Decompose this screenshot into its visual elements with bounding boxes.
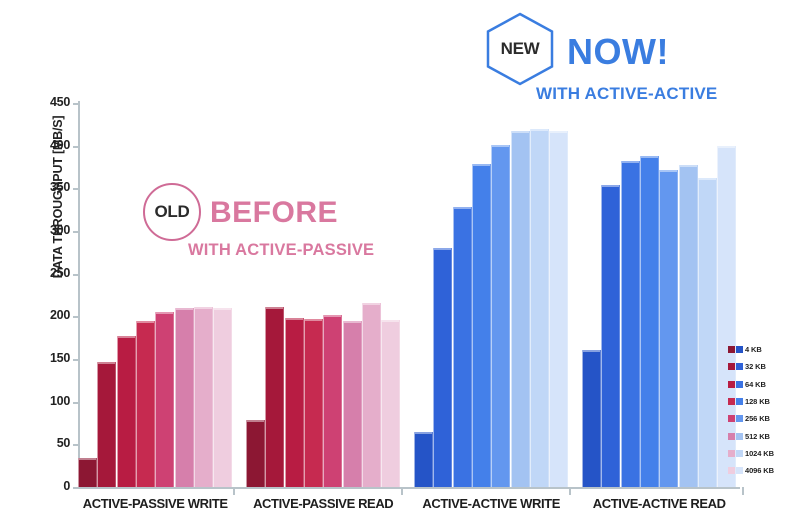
y-axis-tick-label: 350 <box>24 180 70 194</box>
y-axis-tick-label: 300 <box>24 223 70 237</box>
bar-highlight <box>247 420 264 422</box>
bar-highlight <box>531 129 548 131</box>
legend-label: 256 KB <box>745 414 770 423</box>
bar <box>285 318 304 487</box>
bar <box>265 307 284 487</box>
y-axis-tick-label: 0 <box>24 479 70 493</box>
bar <box>530 129 549 487</box>
legend-item[interactable]: 1024 KB <box>728 445 798 462</box>
bar-highlight <box>415 432 432 434</box>
y-axis-tick-label: 50 <box>24 436 70 450</box>
bar-highlight <box>434 248 451 250</box>
new-badge: NEW <box>484 11 556 87</box>
x-axis-category-label: ACTIVE-ACTIVE READ <box>568 496 750 511</box>
legend-swatch-blue <box>736 363 743 370</box>
bar-group <box>246 103 408 487</box>
bar <box>155 312 174 487</box>
new-badge-label: NEW <box>501 39 540 59</box>
legend-swatch-red <box>728 433 735 440</box>
bar-highlight <box>660 170 677 172</box>
bar <box>582 350 601 487</box>
bar <box>323 315 342 487</box>
bar-highlight <box>98 362 115 364</box>
bar-highlight <box>583 350 600 352</box>
legend-swatch-blue <box>736 415 743 422</box>
bar-highlight <box>266 307 283 309</box>
bar-highlight <box>176 308 193 310</box>
bar-highlight <box>214 308 231 310</box>
legend-label: 512 KB <box>745 432 770 441</box>
old-callout-subtitle: WITH ACTIVE-PASSIVE <box>188 242 374 259</box>
legend-swatch-red <box>728 450 735 457</box>
legend-swatch-blue <box>736 467 743 474</box>
bar-highlight <box>512 131 529 133</box>
bar <box>601 185 620 487</box>
legend-swatch-blue <box>736 450 743 457</box>
bar <box>414 432 433 487</box>
bar <box>117 336 136 487</box>
legend-swatch-red <box>728 346 735 353</box>
y-axis-tick-label: 150 <box>24 351 70 365</box>
bar <box>433 248 452 487</box>
legend-swatch-blue <box>736 433 743 440</box>
y-axis-tick-label: 100 <box>24 394 70 408</box>
bar-highlight <box>492 145 509 147</box>
bar <box>362 303 381 487</box>
bar-highlight <box>137 321 154 323</box>
legend-label: 64 KB <box>745 380 766 389</box>
x-axis-separator <box>233 487 235 495</box>
plot-area <box>78 103 738 487</box>
legend-swatch-blue <box>736 398 743 405</box>
bar-group <box>78 103 240 487</box>
new-callout-title: NOW! <box>567 34 669 70</box>
bar <box>246 420 265 487</box>
x-axis-separator <box>401 487 403 495</box>
legend-label: 128 KB <box>745 397 770 406</box>
bar-highlight <box>473 164 490 166</box>
bar-highlight <box>550 131 567 133</box>
x-axis-separator <box>742 487 744 495</box>
legend-swatch-blue <box>736 346 743 353</box>
bar-highlight <box>344 321 361 323</box>
x-axis-category-label: ACTIVE-PASSIVE READ <box>232 496 414 511</box>
bar <box>640 156 659 487</box>
bar <box>213 308 232 487</box>
legend-swatch-red <box>728 398 735 405</box>
legend-swatch-blue <box>736 381 743 388</box>
x-axis-line <box>78 487 740 489</box>
legend-swatch-red <box>728 363 735 370</box>
bar-highlight <box>622 161 639 163</box>
bar-highlight <box>641 156 658 158</box>
bar <box>511 131 530 487</box>
y-axis-tick-label: 400 <box>24 138 70 152</box>
legend-swatch-red <box>728 467 735 474</box>
bar <box>549 131 568 487</box>
y-axis-title: DATA THROUGHPUT [MB/S] <box>51 47 65 347</box>
bar-highlight <box>699 178 716 180</box>
legend: 4 KB32 KB64 KB128 KB256 KB512 KB1024 KB4… <box>728 341 798 479</box>
legend-swatch-red <box>728 415 735 422</box>
bar <box>175 308 194 487</box>
bar-highlight <box>680 165 697 167</box>
bar-group <box>582 103 744 487</box>
bar-highlight <box>454 207 471 209</box>
y-axis-tick-label: 450 <box>24 95 70 109</box>
bar-highlight <box>382 320 399 322</box>
bar-highlight <box>286 318 303 320</box>
bar <box>304 319 323 487</box>
bar <box>679 165 698 487</box>
old-badge: OLD <box>143 183 201 241</box>
bar-highlight <box>363 303 380 305</box>
bar-group <box>414 103 576 487</box>
legend-item[interactable]: 32 KB <box>728 358 798 375</box>
bar <box>659 170 678 487</box>
bar <box>453 207 472 487</box>
legend-swatch-red <box>728 381 735 388</box>
legend-item[interactable]: 4096 KB <box>728 462 798 479</box>
y-axis-tick-label: 250 <box>24 266 70 280</box>
bar-highlight <box>118 336 135 338</box>
bar <box>381 320 400 487</box>
bar-highlight <box>305 319 322 321</box>
bar <box>472 164 491 487</box>
bar <box>491 145 510 487</box>
y-axis-tick-label: 200 <box>24 308 70 322</box>
bar <box>136 321 155 487</box>
legend-label: 1024 KB <box>745 449 774 458</box>
bar-highlight <box>602 185 619 187</box>
legend-item[interactable]: 512 KB <box>728 427 798 444</box>
bar <box>97 362 116 487</box>
legend-item[interactable]: 4 KB <box>728 341 798 358</box>
bar-highlight <box>718 146 735 148</box>
bar-highlight <box>156 312 173 314</box>
legend-item[interactable]: 128 KB <box>728 393 798 410</box>
x-axis-separator <box>569 487 571 495</box>
bar <box>343 321 362 487</box>
bar <box>698 178 717 487</box>
legend-label: 4096 KB <box>745 466 774 475</box>
bar <box>78 458 97 487</box>
bar-highlight <box>79 458 96 460</box>
x-axis-category-label: ACTIVE-ACTIVE WRITE <box>400 496 582 511</box>
bar <box>194 307 213 487</box>
legend-label: 4 KB <box>745 345 762 354</box>
old-callout-title: BEFORE <box>210 198 338 228</box>
x-axis-category-label: ACTIVE-PASSIVE WRITE <box>64 496 246 511</box>
bar-chart: DATA THROUGHPUT [MB/S] 45040035030025020… <box>0 0 800 529</box>
legend-item[interactable]: 256 KB <box>728 410 798 427</box>
legend-label: 32 KB <box>745 362 766 371</box>
bar-highlight <box>324 315 341 317</box>
new-callout-subtitle: WITH ACTIVE-ACTIVE <box>536 85 717 102</box>
bar-highlight <box>195 307 212 309</box>
bar <box>621 161 640 487</box>
legend-item[interactable]: 64 KB <box>728 376 798 393</box>
